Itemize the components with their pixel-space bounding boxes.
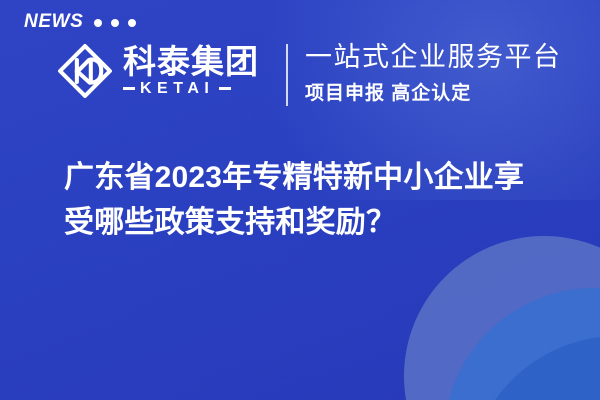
page-title: 广东省2023年专精特新中小企业享 受哪些政策支持和奖励？ [64, 155, 570, 245]
brand-tagline-divider [286, 44, 288, 106]
dot-icon [128, 19, 136, 27]
ketai-diamond-kd-logo-icon [56, 42, 114, 100]
news-kicker-dots-icon [94, 19, 136, 27]
news-kicker: NEWS [24, 12, 136, 31]
brand-name-cn: 科泰集团 [123, 45, 259, 80]
brand-rule-right-icon [219, 87, 231, 90]
tagline-sub: 项目申报 高企认定 [305, 78, 562, 105]
brand-names: 科泰集团 KETAI [123, 45, 259, 97]
headline-line-2: 受哪些政策支持和奖励？ [64, 200, 570, 245]
brand-lockup: 科泰集团 KETAI [56, 42, 259, 100]
brand-rule-left-icon [123, 87, 135, 90]
news-banner: NEWS 科泰集团 [0, 0, 600, 400]
dot-icon [94, 19, 102, 27]
news-kicker-label: NEWS [24, 12, 83, 31]
brand-name-en-row: KETAI [123, 81, 259, 97]
tagline-block: 一站式企业服务平台 项目申报 高企认定 [305, 42, 562, 105]
dot-icon [111, 19, 119, 27]
brand-name-en: KETAI [140, 81, 214, 97]
headline-line-1: 广东省2023年专精特新中小企业享 [64, 155, 570, 200]
tagline-main: 一站式企业服务平台 [305, 42, 562, 73]
